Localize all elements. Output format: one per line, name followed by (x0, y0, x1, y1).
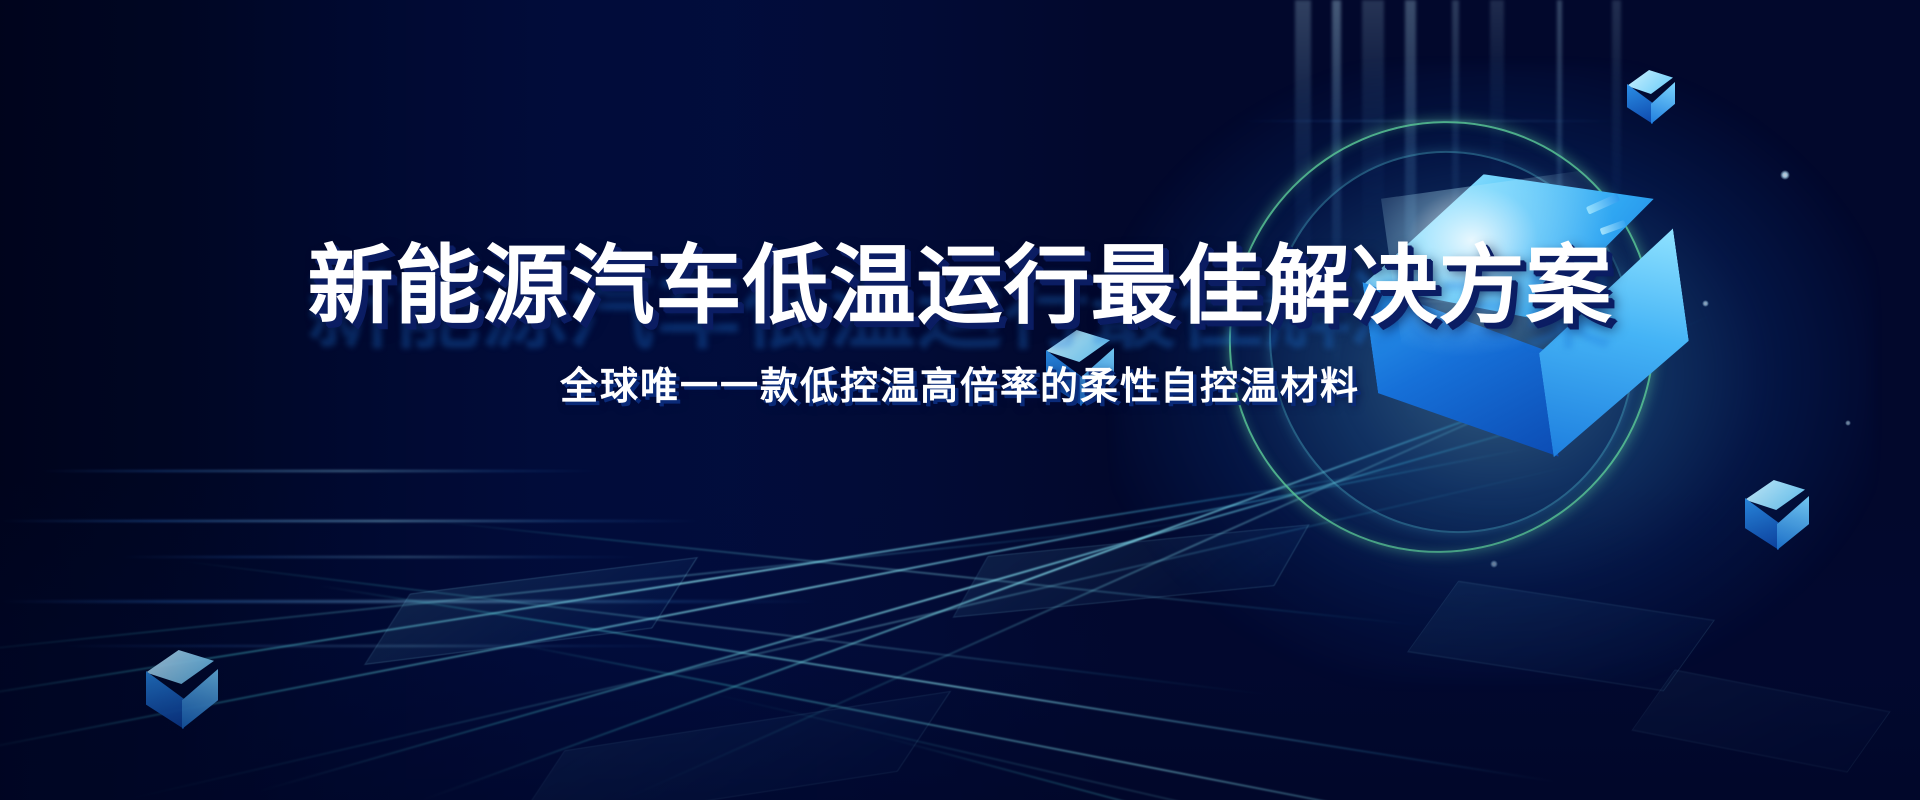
background-bottom-shade (0, 480, 1920, 800)
sparkle (1702, 300, 1709, 307)
light-streak (40, 470, 600, 472)
floating-cube (1623, 70, 1677, 128)
banner-subheadline: 全球唯一一款低控温高倍率的柔性自控温材料 (560, 355, 1360, 410)
banner-headline: 新能源汽车低温运行最佳解决方案 (308, 240, 1613, 333)
sparkle (1780, 170, 1790, 180)
sparkle (1845, 420, 1851, 426)
hero-banner: 新能源汽车低温运行最佳解决方案 新能源汽车低温运行最佳解决方案 全球唯一一款低控… (0, 0, 1920, 800)
